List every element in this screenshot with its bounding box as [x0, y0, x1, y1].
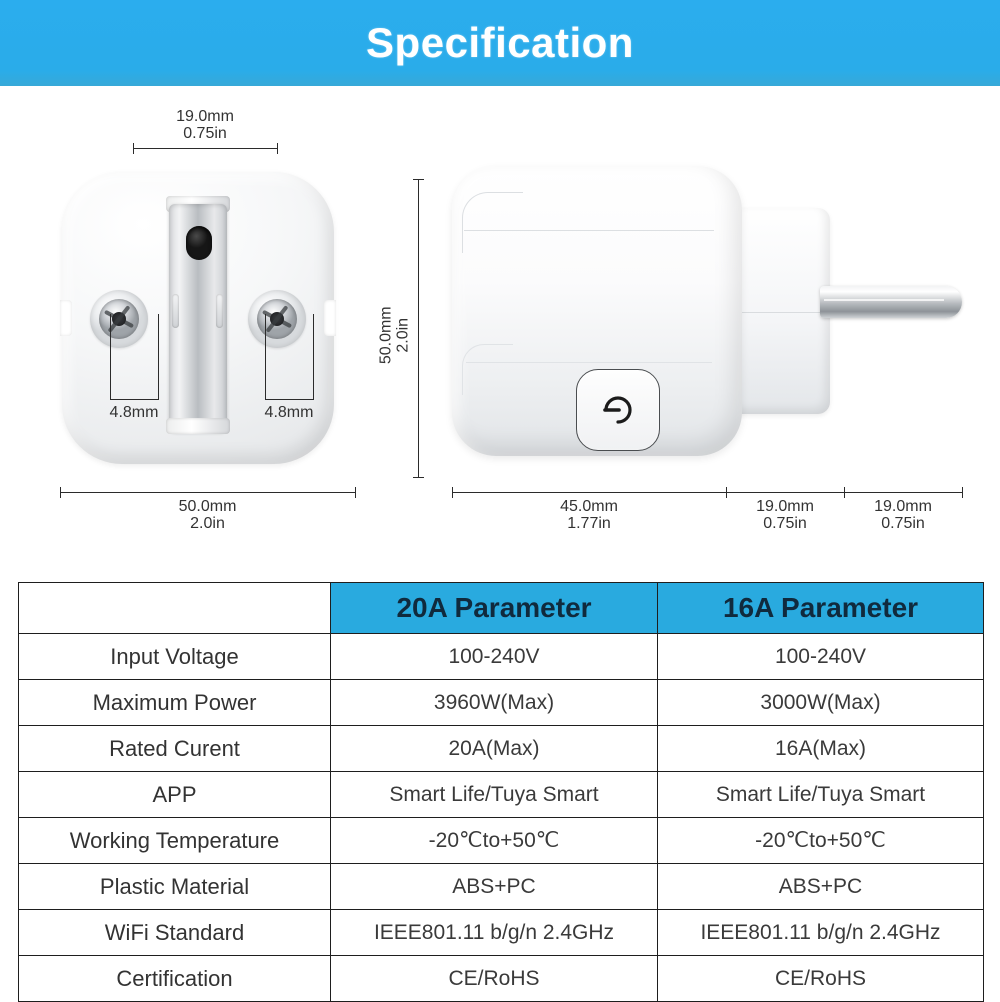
row-label: Certification [19, 956, 331, 1002]
power-icon [596, 388, 640, 432]
pin-highlight [824, 299, 944, 301]
row-label: APP [19, 772, 331, 818]
dimension-body-depth: 45.0mm 1.77in [452, 498, 726, 533]
row-value-16a: CE/RoHS [658, 956, 984, 1002]
row-value-20a: -20℃to+50℃ [331, 818, 658, 864]
row-value-20a: IEEE801.11 b/g/n 2.4GHz [331, 910, 658, 956]
row-value-20a: 100-240V [331, 634, 658, 680]
table-header-row: 20A Parameter 16A Parameter [19, 583, 984, 634]
dimension-tick [962, 487, 963, 498]
plug-side-notch-left [60, 300, 72, 336]
earth-pin [820, 286, 962, 318]
collar-seam [730, 312, 826, 313]
specification-table: 20A Parameter 16A Parameter Input Voltag… [18, 582, 984, 1002]
earth-slit-right [216, 294, 223, 328]
dimension-tick [844, 487, 845, 498]
row-value-16a: 3000W(Max) [658, 680, 984, 726]
dimension-line-pin-left [110, 399, 159, 400]
dimension-line-pin-right [265, 399, 314, 400]
dimension-body-height: 50.0mm 2.0in [378, 275, 413, 395]
screw-core [270, 312, 284, 326]
table-header-20a: 20A Parameter [331, 583, 658, 634]
table-row: Rated Curent 20A(Max) 16A(Max) [19, 726, 984, 772]
specification-banner: Specification [0, 0, 1000, 86]
page-title: Specification [366, 19, 634, 67]
row-value-20a: 20A(Max) [331, 726, 658, 772]
table-row: Working Temperature -20℃to+50℃ -20℃to+50… [19, 818, 984, 864]
earth-slit-left [172, 294, 179, 328]
dimension-tick [726, 487, 727, 498]
table-row: Input Voltage 100-240V 100-240V [19, 634, 984, 680]
row-label: Input Voltage [19, 634, 331, 680]
dimension-pin-length: 19.0mm 0.75in [844, 498, 962, 533]
dimension-tick [355, 487, 356, 498]
dimension-tick [452, 487, 453, 498]
dimension-line-pin-spacing [133, 148, 277, 149]
dimension-tick [413, 477, 424, 478]
row-value-16a: 100-240V [658, 634, 984, 680]
table-row: WiFi Standard IEEE801.11 b/g/n 2.4GHz IE… [19, 910, 984, 956]
dimension-pin-right-label: 4.8mm [241, 404, 337, 421]
row-value-20a: CE/RoHS [331, 956, 658, 1002]
table-header-16a: 16A Parameter [658, 583, 984, 634]
row-value-20a: ABS+PC [331, 864, 658, 910]
body-seam-bottom-curve [462, 344, 513, 395]
screw-left-icon [99, 299, 139, 339]
plug-side-notch-right [324, 300, 336, 336]
dimension-line-pin-right-a [265, 314, 266, 400]
row-value-16a: IEEE801.11 b/g/n 2.4GHz [658, 910, 984, 956]
row-value-16a: 16A(Max) [658, 726, 984, 772]
row-value-16a: ABS+PC [658, 864, 984, 910]
dimension-body-width: 50.0mm 2.0in [60, 498, 355, 533]
row-value-20a: Smart Life/Tuya Smart [331, 772, 658, 818]
row-value-20a: 3960W(Max) [331, 680, 658, 726]
table-row: Plastic Material ABS+PC ABS+PC [19, 864, 984, 910]
table-row: Certification CE/RoHS CE/RoHS [19, 956, 984, 1002]
table-row: Maximum Power 3960W(Max) 3000W(Max) [19, 680, 984, 726]
product-diagram: 19.0mm 0.75in 4.8mm 4.8mm [0, 86, 1000, 558]
plug-side-view [452, 166, 962, 466]
dimension-tick [277, 143, 278, 154]
screw-core [112, 312, 126, 326]
dimension-line-pin-left-b [158, 314, 159, 400]
row-label: Plastic Material [19, 864, 331, 910]
body-seam-bottom [466, 362, 712, 363]
earth-pin-hole [186, 226, 212, 260]
dimension-tick [60, 487, 61, 498]
dimension-tick [413, 179, 424, 180]
row-label: Working Temperature [19, 818, 331, 864]
dimension-line-body-height [418, 179, 419, 477]
socket-hole-left [90, 290, 148, 348]
dimension-tick [133, 143, 134, 154]
screw-right-icon [257, 299, 297, 339]
dimension-pin-left-label: 4.8mm [86, 404, 182, 421]
power-button[interactable] [576, 369, 660, 451]
dimension-line-body-width [60, 492, 355, 493]
row-value-16a: Smart Life/Tuya Smart [658, 772, 984, 818]
row-label: Rated Curent [19, 726, 331, 772]
dimension-pin-spacing: 19.0mm 0.75in [133, 108, 277, 143]
row-label: WiFi Standard [19, 910, 331, 956]
body-seam-top [464, 230, 714, 231]
dimension-line-side-chain [452, 492, 962, 493]
table-header-blank [19, 583, 331, 634]
body-seam-top-curve [462, 192, 523, 253]
row-value-16a: -20℃to+50℃ [658, 818, 984, 864]
dimension-line-pin-right-b [313, 314, 314, 400]
row-label: Maximum Power [19, 680, 331, 726]
dimension-collar-depth: 19.0mm 0.75in [726, 498, 844, 533]
socket-hole-right [248, 290, 306, 348]
table-row: APP Smart Life/Tuya Smart Smart Life/Tuy… [19, 772, 984, 818]
dimension-line-pin-left-a [110, 314, 111, 400]
table-body: Input Voltage 100-240V 100-240V Maximum … [19, 634, 984, 1002]
